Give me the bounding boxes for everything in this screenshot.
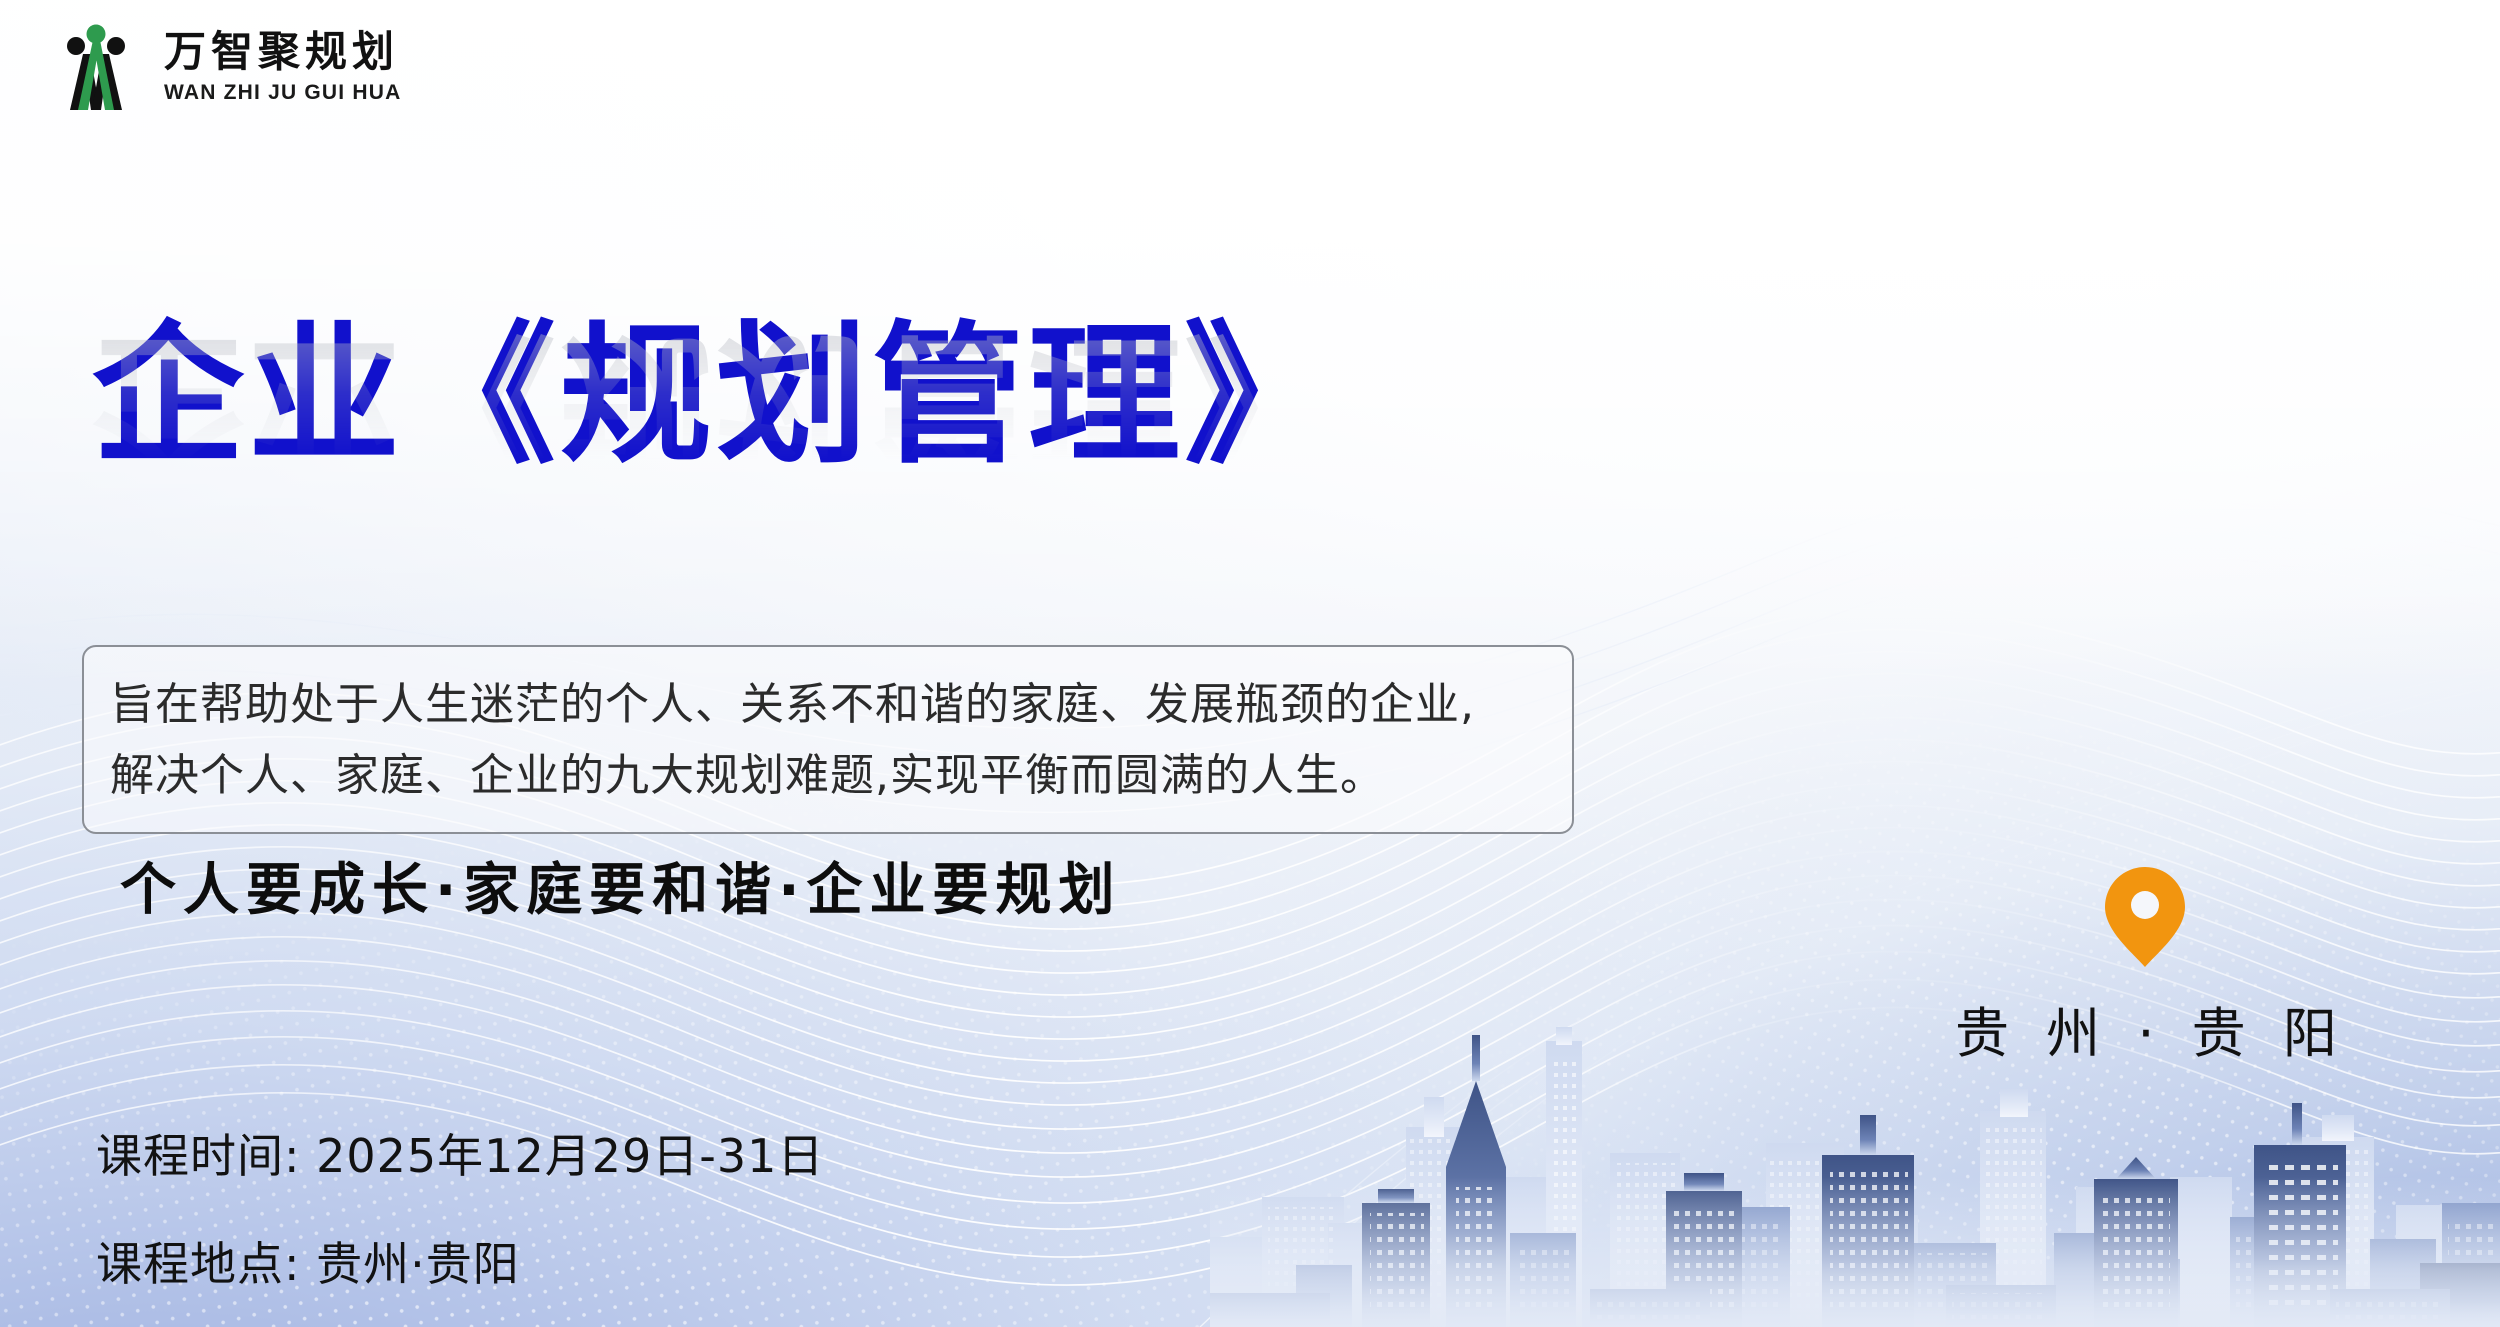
city-skyline-icon <box>1210 1027 2500 1327</box>
location-label: 贵 州 · 贵 阳 <box>1955 989 2335 1068</box>
poster-canvas: 万智聚规划 WAN ZHI JU GUI HUA 企业《规划管理》 企业《规划管… <box>0 0 2500 1327</box>
description-line-2: 解决个人、家庭、企业的九大规划难题,实现平衡而圆满的人生。 <box>110 740 1546 811</box>
description-line-1: 旨在帮助处于人生迷茫的个人、关系不和谐的家庭、发展瓶颈的企业, <box>110 669 1546 740</box>
course-place: 课程地点: 贵州·贵阳 <box>96 1228 824 1294</box>
location-block: 贵 州 · 贵 阳 <box>1955 865 2335 1068</box>
slogan-text: 个人要成长·家庭要和谐·企业要规划 <box>120 845 1122 926</box>
brand-name-pinyin: WAN ZHI JU GUI HUA <box>164 81 401 105</box>
course-info: 课程时间: 2025年12月29日-31日 课程地点: 贵州·贵阳 <box>96 1120 824 1294</box>
brand-wordmark: 万智聚规划 WAN ZHI JU GUI HUA <box>164 31 401 104</box>
map-pin-icon <box>2103 865 2187 969</box>
title-reflection: 企业《规划管理》 <box>92 326 1612 478</box>
brand-logo: 万智聚规划 WAN ZHI JU GUI HUA <box>50 24 401 112</box>
hero-title-block: 企业《规划管理》 企业《规划管理》 <box>92 320 1612 630</box>
three-people-logo-icon <box>50 24 142 112</box>
brand-name-cn: 万智聚规划 <box>164 31 401 76</box>
description-box: 旨在帮助处于人生迷茫的个人、关系不和谐的家庭、发展瓶颈的企业, 解决个人、家庭、… <box>82 645 1574 834</box>
course-time: 课程时间: 2025年12月29日-31日 <box>96 1120 824 1186</box>
